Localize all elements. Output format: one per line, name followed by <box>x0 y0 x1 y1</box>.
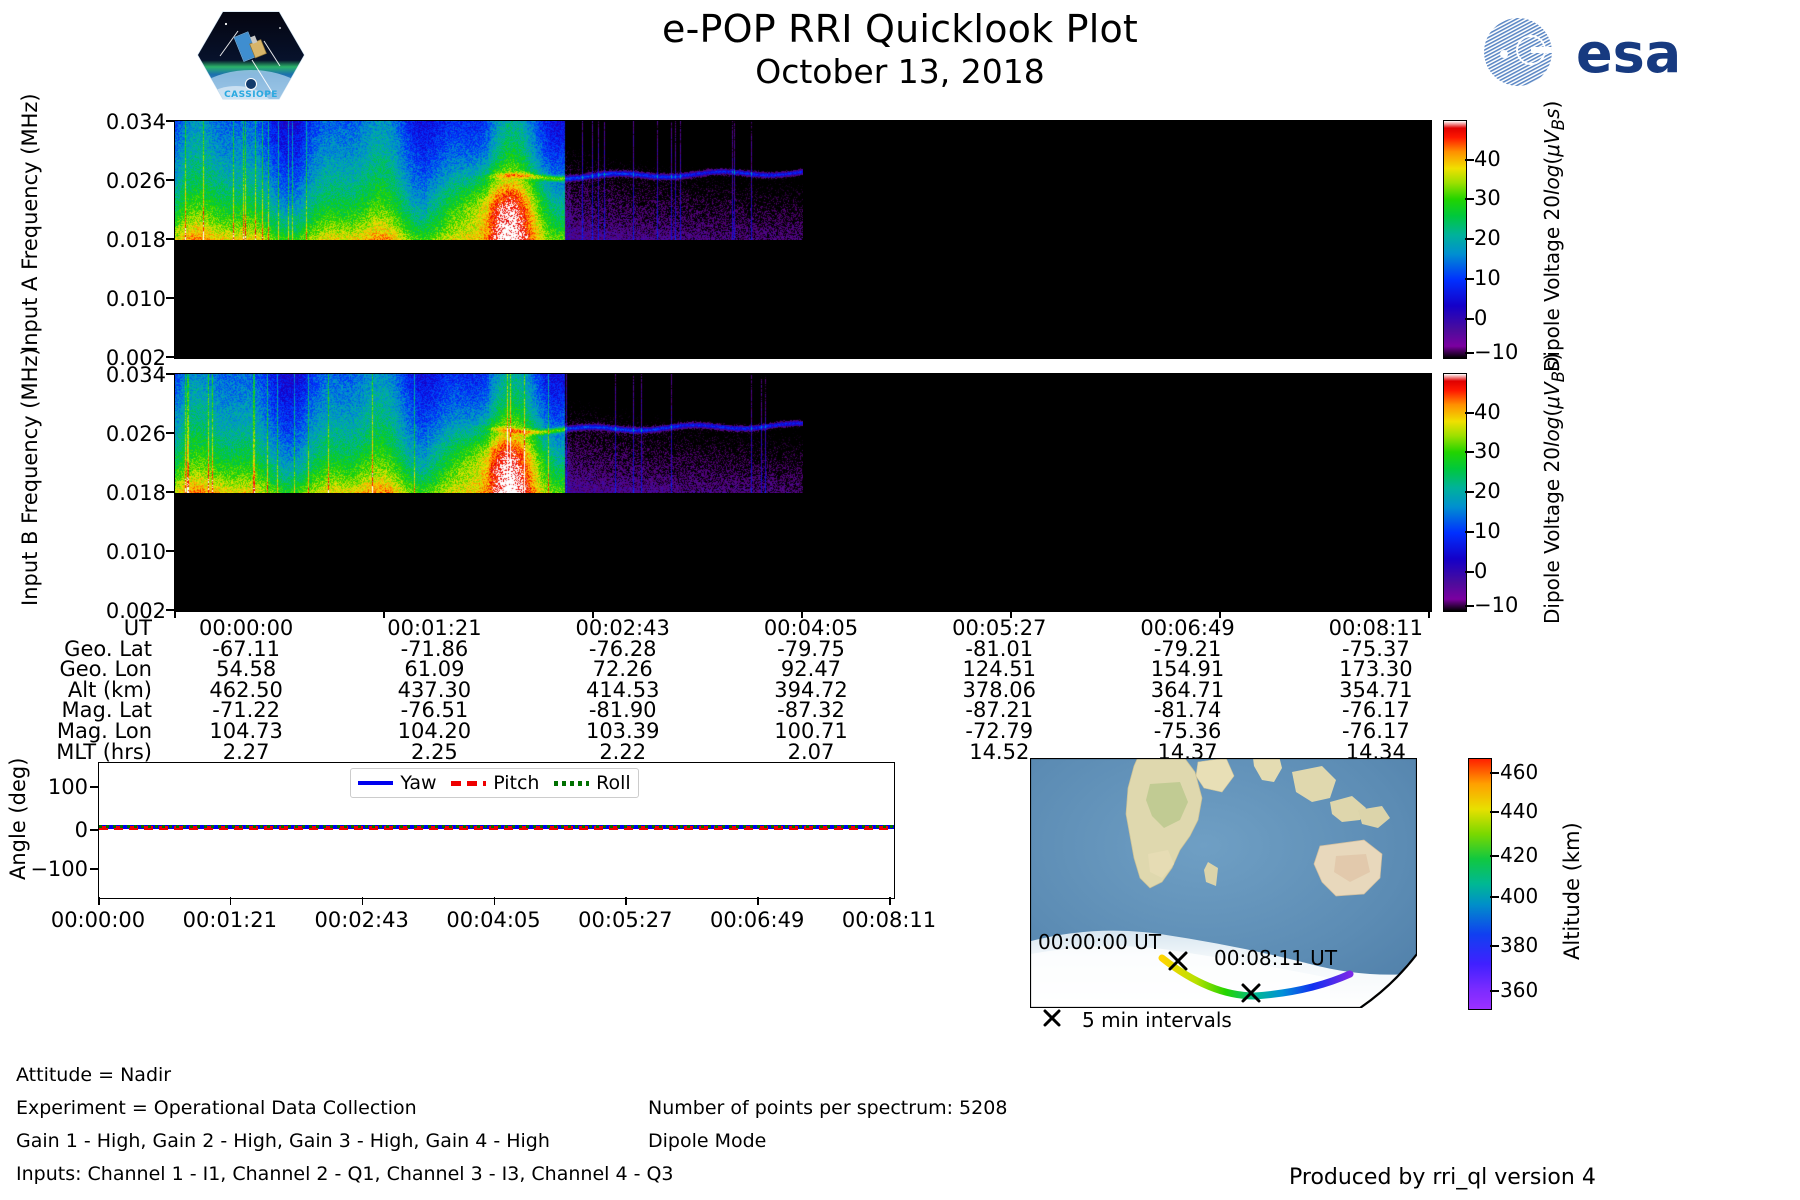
ephemeris-cell: 2.27 <box>152 742 340 763</box>
map-cbtick-2: 420 <box>1500 843 1538 867</box>
attitude-xtick-label: 00:02:43 <box>297 908 427 932</box>
esa-logo: esa <box>1478 14 1778 90</box>
ephemeris-cell: 104.73 <box>152 721 340 742</box>
ephemeris-cell: -81.01 <box>905 639 1093 660</box>
footer-points-per-spectrum: Number of points per spectrum: 5208 <box>648 1097 1007 1119</box>
ephemeris-cell: 378.06 <box>905 680 1093 701</box>
ephemeris-cell: -71.86 <box>340 639 528 660</box>
footer-experiment: Experiment = Operational Data Collection <box>16 1097 417 1119</box>
ephemeris-row-label: Geo. Lat <box>0 639 152 660</box>
spectrogram-b-image <box>175 374 803 493</box>
ephemeris-cell: -79.21 <box>1093 639 1281 660</box>
ephemeris-cell: -76.28 <box>529 639 717 660</box>
map-end-time-label: 00:08:11 UT <box>1214 946 1337 970</box>
footer-gains: Gain 1 - High, Gain 2 - High, Gain 3 - H… <box>16 1130 550 1152</box>
panel-b-cbtick-2: 20 <box>1474 479 1501 503</box>
panel-a-cbtick-2: 20 <box>1474 226 1501 250</box>
map-cbtick-3: 400 <box>1500 884 1538 908</box>
ephemeris-cell: -79.75 <box>717 639 905 660</box>
panel-b-xtick <box>1428 610 1430 618</box>
ephemeris-cell: 462.50 <box>152 680 340 701</box>
ephemeris-cell: 54.58 <box>152 659 340 680</box>
legend-label-pitch: Pitch <box>493 772 539 794</box>
spectrogram-a-image <box>175 121 803 240</box>
ephemeris-cell: 72.26 <box>529 659 717 680</box>
legend-swatch-yaw <box>358 781 393 785</box>
footer-mode: Dipole Mode <box>648 1130 766 1152</box>
panel-a-cbtick-0: 40 <box>1474 147 1501 171</box>
panel-a-cbtick-1: 30 <box>1474 186 1501 210</box>
ephemeris-row: UT00:00:0000:01:2100:02:4300:04:0500:05:… <box>0 618 1470 639</box>
ephemeris-cell: 00:00:00 <box>152 618 340 639</box>
ephemeris-row-label: UT <box>0 618 152 639</box>
panel-b-cbtick-3: 10 <box>1474 519 1501 543</box>
track-end-marker-icon <box>1238 980 1264 1006</box>
attitude-xtick-label: 00:00:00 <box>33 908 163 932</box>
panel-b-xtick <box>383 610 385 618</box>
panel-a-colorbar-label: Dipole Voltage 20log(μVBs) <box>1540 101 1568 372</box>
attitude-xtick-label: 00:04:05 <box>429 908 559 932</box>
ephemeris-cell: -75.37 <box>1282 639 1470 660</box>
ephemeris-cell: 437.30 <box>340 680 528 701</box>
attitude-xtick-label: 00:06:49 <box>692 908 822 932</box>
ephemeris-row-label: Geo. Lon <box>0 659 152 680</box>
footer-attitude: Attitude = Nadir <box>16 1064 171 1086</box>
ephemeris-cell: -87.21 <box>905 700 1093 721</box>
ephemeris-cell: -81.90 <box>529 700 717 721</box>
legend-item-pitch: Pitch <box>451 772 539 794</box>
legend-label-yaw: Yaw <box>400 772 436 794</box>
ephemeris-cell: 00:08:11 <box>1282 618 1470 639</box>
panel-b-ylabel: Input B Frequency (MHz) <box>18 347 42 606</box>
panel-b-cbtick-4: 0 <box>1474 559 1487 583</box>
map-start-time-label: 00:00:00 UT <box>1038 930 1161 954</box>
ephemeris-cell: 00:06:49 <box>1093 618 1281 639</box>
ephemeris-cell: 414.53 <box>529 680 717 701</box>
ephemeris-cell: -76.17 <box>1282 700 1470 721</box>
ephemeris-cell: 103.39 <box>529 721 717 742</box>
ephemeris-cell: -87.32 <box>717 700 905 721</box>
attitude-ytick-2: −100 <box>16 857 88 881</box>
panel-a-ytick-2: 0.018 <box>70 228 166 252</box>
panel-a-cbtick-5: −10 <box>1474 340 1518 364</box>
spectrogram-panel-b <box>174 373 1432 612</box>
attitude-xtickmark <box>230 897 232 905</box>
attitude-roll-line <box>99 825 894 828</box>
panel-a-cbtick-4: 0 <box>1474 306 1487 330</box>
panel-b-ytick-2: 0.018 <box>70 481 166 505</box>
ephemeris-cell: -75.36 <box>1093 721 1281 742</box>
panel-a-ytick-0: 0.034 <box>70 110 166 134</box>
attitude-xtickmark <box>362 897 364 905</box>
ephemeris-cell: 124.51 <box>905 659 1093 680</box>
legend-swatch-roll <box>554 781 589 786</box>
ephemeris-row: Mag. Lon104.73104.20103.39100.71-72.79-7… <box>0 721 1470 742</box>
track-start-marker-icon <box>1165 948 1191 974</box>
ephemeris-row: Geo. Lon54.5861.0972.2692.47124.51154.91… <box>0 659 1470 680</box>
ephemeris-row-label: Alt (km) <box>0 680 152 701</box>
attitude-xtickmark <box>757 897 759 905</box>
panel-b-cbtick-1: 30 <box>1474 439 1501 463</box>
panel-a-ytick-3: 0.010 <box>70 287 166 311</box>
ephemeris-cell: 00:05:27 <box>905 618 1093 639</box>
page-title: e-POP RRI Quicklook Plot October 13, 201… <box>420 6 1380 92</box>
ephemeris-cell: 00:02:43 <box>529 618 717 639</box>
ephemeris-row: Alt (km)462.50437.30414.53394.72378.0636… <box>0 680 1470 701</box>
ephemeris-cell: 00:04:05 <box>717 618 905 639</box>
ephemeris-cell: 364.71 <box>1093 680 1281 701</box>
legend-swatch-pitch <box>451 781 486 786</box>
ephemeris-cell: -67.11 <box>152 639 340 660</box>
interval-marker-icon <box>1040 1006 1064 1030</box>
legend-label-roll: Roll <box>596 772 631 794</box>
attitude-ytick-0: 100 <box>16 775 88 799</box>
ephemeris-cell: 100.71 <box>717 721 905 742</box>
panel-b-ytick-1: 0.026 <box>70 422 166 446</box>
ephemeris-cell: -76.51 <box>340 700 528 721</box>
legend-item-roll: Roll <box>554 772 631 794</box>
attitude-xtickmark <box>98 897 100 905</box>
ephemeris-cell: 354.71 <box>1282 680 1470 701</box>
attitude-xtickmark <box>625 897 627 905</box>
ephemeris-cell: 2.25 <box>340 742 528 763</box>
footer-produced-by: Produced by rri_ql version 4 <box>1289 1165 1596 1190</box>
ephemeris-cell: -71.22 <box>152 700 340 721</box>
attitude-xtickmark <box>889 897 891 905</box>
map-interval-label: 5 min intervals <box>1082 1008 1232 1032</box>
ephemeris-cell: 394.72 <box>717 680 905 701</box>
panel-b-colorbar <box>1443 373 1467 612</box>
ephemeris-cell: 104.20 <box>340 721 528 742</box>
panel-b-cbtick-0: 40 <box>1474 400 1501 424</box>
panel-a-cbtick-3: 10 <box>1474 266 1501 290</box>
ephemeris-cell: 154.91 <box>1093 659 1281 680</box>
ephemeris-cell: 61.09 <box>340 659 528 680</box>
attitude-xtick-label: 00:05:27 <box>560 908 690 932</box>
legend-item-yaw: Yaw <box>358 772 436 794</box>
ephemeris-cell: 2.07 <box>717 742 905 763</box>
ephemeris-cell: 173.30 <box>1282 659 1470 680</box>
ephemeris-cell: 92.47 <box>717 659 905 680</box>
title-date-text: October 13, 2018 <box>420 52 1380 92</box>
attitude-xtick-label: 00:01:21 <box>165 908 295 932</box>
map-cbtick-4: 380 <box>1500 933 1538 957</box>
panel-a-ylabel: Input A Frequency (MHz) <box>18 93 42 352</box>
map-cbtick-0: 460 <box>1500 760 1538 784</box>
map-cbtick-1: 440 <box>1500 799 1538 823</box>
ephemeris-row: Mag. Lat-71.22-76.51-81.90-87.32-87.21-8… <box>0 700 1470 721</box>
panel-b-ytick-3: 0.010 <box>70 540 166 564</box>
ephemeris-row: Geo. Lat-67.11-71.86-76.28-79.75-81.01-7… <box>0 639 1470 660</box>
ephemeris-table: UT00:00:0000:01:2100:02:4300:04:0500:05:… <box>0 618 1470 762</box>
ground-track-map <box>1030 758 1417 1008</box>
panel-a-ytick-1: 0.026 <box>70 169 166 193</box>
attitude-xtick-label: 00:08:11 <box>824 908 954 932</box>
map-altitude-colorbar <box>1468 758 1492 1010</box>
ephemeris-row-label: Mag. Lon <box>0 721 152 742</box>
esa-wordmark: esa <box>1576 22 1681 85</box>
panel-b-xtick <box>174 610 176 618</box>
footer-inputs: Inputs: Channel 1 - I1, Channel 2 - Q1, … <box>16 1163 674 1185</box>
panel-b-colorbar-label: Dipole Voltage 20log(μVBs) <box>1540 353 1568 624</box>
ephemeris-cell: -81.74 <box>1093 700 1281 721</box>
attitude-legend: Yaw Pitch Roll <box>350 768 639 798</box>
panel-a-colorbar <box>1443 120 1467 359</box>
panel-b-ytick-0: 0.034 <box>70 363 166 387</box>
ephemeris-cell: -72.79 <box>905 721 1093 742</box>
ephemeris-cell: 2.22 <box>529 742 717 763</box>
title-main-text: e-POP RRI Quicklook Plot <box>420 6 1380 52</box>
spectrogram-panel-a <box>174 120 1432 359</box>
cassiope-mission-logo: CASSIOPE <box>196 8 306 103</box>
attitude-ytick-1: 0 <box>16 818 88 842</box>
ephemeris-row-label: Mag. Lat <box>0 700 152 721</box>
panel-b-cbtick-5: −10 <box>1474 593 1518 617</box>
ephemeris-cell: 00:01:21 <box>340 618 528 639</box>
ephemeris-cell: -76.17 <box>1282 721 1470 742</box>
cassiope-logo-text: CASSIOPE <box>224 90 278 100</box>
map-cbtick-5: 360 <box>1500 978 1538 1002</box>
attitude-xtickmark <box>494 897 496 905</box>
map-colorbar-label: Altitude (km) <box>1560 822 1584 960</box>
